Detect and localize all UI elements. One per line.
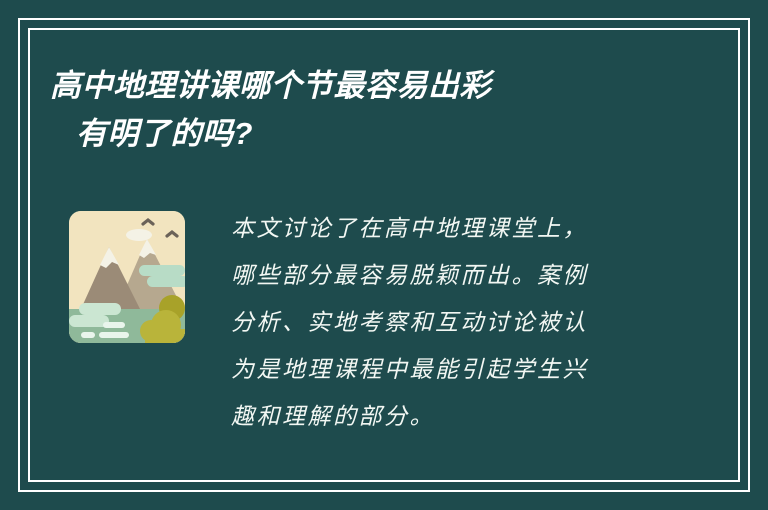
page-title: 高中地理讲课哪个节最容易出彩 有明了的吗?	[50, 62, 730, 158]
landscape-icon	[55, 203, 193, 351]
article-summary: 本文讨论了在高中地理课堂上， 哪些部分最容易脱颖而出。案例 分析、实地考察和互动…	[231, 206, 661, 441]
body-line-2: 哪些部分最容易脱颖而出。案例	[231, 253, 661, 300]
mountain-landscape-illustration	[55, 203, 193, 351]
body-line-1: 本文讨论了在高中地理课堂上，	[231, 206, 661, 253]
body-line-3: 分析、实地考察和互动讨论被认	[231, 300, 661, 347]
title-line-2: 有明了的吗?	[50, 110, 730, 158]
body-line-4: 为是地理课程中最能引起学生兴	[231, 347, 661, 394]
title-line-1: 高中地理讲课哪个节最容易出彩	[50, 62, 730, 110]
poster-card: 高中地理讲课哪个节最容易出彩 有明了的吗?	[0, 0, 768, 510]
body-line-5: 趣和理解的部分。	[231, 394, 661, 441]
